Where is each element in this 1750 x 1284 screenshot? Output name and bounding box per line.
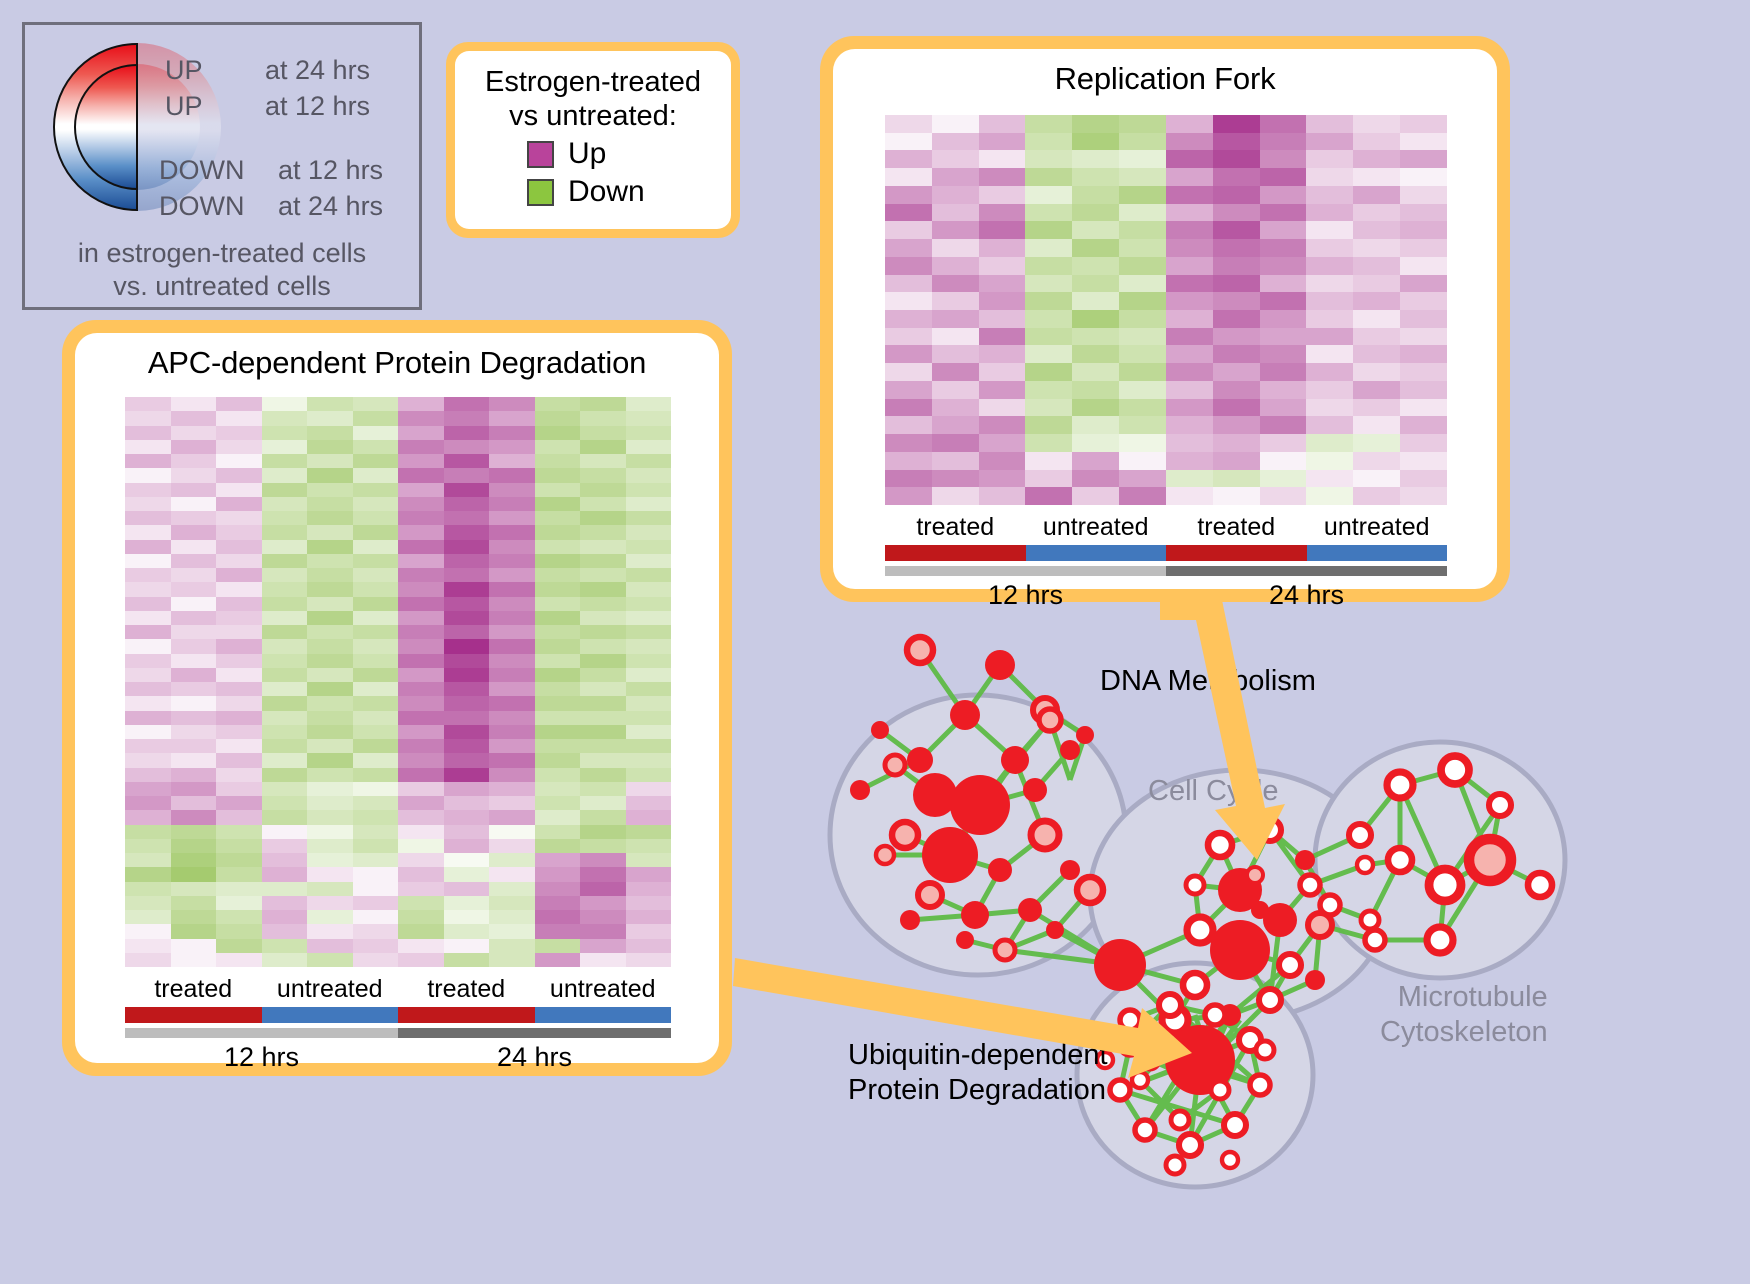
heatmap-cell [626,910,672,924]
network-node[interactable] [876,846,894,864]
heatmap-cell [353,882,399,896]
network-node[interactable] [913,773,957,817]
heatmap-cell [1353,416,1400,434]
heatmap-cell [489,454,535,468]
heatmap-cell [398,639,444,653]
network-node[interactable] [1205,1005,1225,1025]
heatmap-cell [489,796,535,810]
network-node[interactable] [885,755,905,775]
heatmap-cell [626,411,672,425]
heatmap-cell [444,440,490,454]
heatmap-cell [1166,204,1213,222]
heatmap-cell [125,554,171,568]
heatmap-cell [1025,310,1072,328]
heatmap-cell [535,639,581,653]
heatmap-cell [353,924,399,938]
circle-key-footer-line1: in estrogen-treated cells [25,237,419,270]
axis-group-labels-apc: treateduntreatedtreateduntreated [125,975,671,1004]
heatmap-cell [1119,434,1166,452]
network-node[interactable] [1305,970,1325,990]
heatmap-cell [1119,452,1166,470]
heatmap-cell [1353,115,1400,133]
network-node[interactable] [961,901,989,929]
heatmap-cell [171,867,217,881]
heatmap-cell [444,896,490,910]
heatmap-cell [1353,275,1400,293]
heatmap-cell [489,639,535,653]
axis-group-label: treated [885,513,1026,542]
heatmap-cell [1025,292,1072,310]
heatmap-cell [489,426,535,440]
heatmap-cell [489,554,535,568]
circle-key-footer-line2: vs. untreated cells [25,270,419,303]
heatmap-cell [1260,257,1307,275]
heatmap-cell [626,440,672,454]
heatmap-cell [1025,221,1072,239]
heatmap-cell [307,582,353,596]
heatmap-cell [353,768,399,782]
network-diagram[interactable]: DNA Metabolism Cell Cycle Microtubule Cy… [800,620,1750,1279]
heatmap-cell [885,416,932,434]
heatmap-cell [885,186,932,204]
heatmap-cell [580,397,626,411]
heatmap-cell [489,668,535,682]
heatmap-cell [353,525,399,539]
network-node[interactable] [900,910,920,930]
heatmap-cell [1306,133,1353,151]
legend-up-row: Up [527,137,723,171]
heatmap-cell [216,696,262,710]
heatmap-cell [353,611,399,625]
heatmap-cell [171,739,217,753]
network-node[interactable] [1441,756,1469,784]
heatmap-cell [1353,470,1400,488]
network-node[interactable] [850,780,870,800]
heatmap-cell [489,682,535,696]
network-node[interactable] [1186,876,1204,894]
key-up-24-value: UP [165,55,203,86]
heatmap-cell [262,611,308,625]
heatmap-cell [1400,150,1447,168]
heatmap-cell [125,896,171,910]
heatmap-cell [489,654,535,668]
heatmap-cell [1353,399,1400,417]
heatmap-cell [216,810,262,824]
network-node[interactable] [1361,911,1379,929]
heatmap-cell [216,511,262,525]
heatmap-cell [1306,115,1353,133]
heatmap-cell [216,625,262,639]
heatmap-cell [1260,399,1307,417]
heatmap-cell [125,711,171,725]
network-node[interactable] [1528,873,1552,897]
heatmap-cell [580,711,626,725]
axis-group-label: treated [1166,513,1307,542]
heatmap-cell [444,867,490,881]
heatmap-cell [125,597,171,611]
heatmap-cell [353,582,399,596]
heatmap-cell [626,711,672,725]
network-node[interactable] [1120,1010,1140,1030]
axis-group-label: treated [398,975,535,1004]
network-node[interactable] [1247,867,1263,883]
network-node[interactable] [1469,839,1511,881]
heatmap-cell [1072,452,1119,470]
network-node[interactable] [988,858,1012,882]
heatmap-cell [353,782,399,796]
heatmap-cell [398,953,444,967]
network-node[interactable] [950,700,980,730]
heatmap-cell [398,682,444,696]
heatmap-cell [125,540,171,554]
heatmap-cell [580,882,626,896]
network-node[interactable] [950,775,1010,835]
network-node[interactable] [1300,875,1320,895]
heatmap-cell [535,696,581,710]
heatmap-cell [885,239,932,257]
heatmap-cell [580,668,626,682]
heatmap-cell [125,511,171,525]
network-node[interactable] [1039,709,1061,731]
heatmap-cell [1400,133,1447,151]
heatmap-cell [1353,487,1400,505]
heatmap-cell [398,810,444,824]
heatmap-cell [307,611,353,625]
heatmap-cell [626,397,672,411]
heatmap-cell [353,796,399,810]
heatmap-cell [307,397,353,411]
network-node[interactable] [1256,1041,1274,1059]
network-node[interactable] [1183,973,1207,997]
network-node[interactable] [1179,1134,1201,1156]
network-node[interactable] [1208,833,1232,857]
heatmap-cell [932,204,979,222]
network-node[interactable] [995,940,1015,960]
heatmap-cell [216,753,262,767]
network-node[interactable] [1388,848,1412,872]
heatmap-cell [353,625,399,639]
network-node[interactable] [1489,794,1511,816]
heatmap-cell [979,204,1026,222]
heatmap-cell [489,939,535,953]
heatmap-cell [353,411,399,425]
network-node[interactable] [871,721,889,739]
network-node[interactable] [985,650,1015,680]
heatmap-cell [535,497,581,511]
heatmap-cell [885,168,932,186]
heatmap-cell [885,204,932,222]
heatmap-cell [535,568,581,582]
heatmap-cell [626,483,672,497]
heatmap-cell [307,568,353,582]
heatmap-cell [398,796,444,810]
heatmap-cell [885,221,932,239]
heatmap-cell [979,115,1026,133]
heatmap-cell [171,696,217,710]
heatmap-cell [535,953,581,967]
heatmap-cell [1260,168,1307,186]
heatmap-cell [398,924,444,938]
heatmap-cell [1119,150,1166,168]
heatmap-cell [307,939,353,953]
axis-time-labels-apc: 12 hrs24 hrs [125,1042,671,1073]
heatmap-cell [262,867,308,881]
heatmap-cell [125,939,171,953]
panel-replication-fork-title: Replication Fork [833,49,1497,97]
heatmap-cell [1260,452,1307,470]
heatmap-cell [535,796,581,810]
network-node[interactable] [892,822,918,848]
heatmap-cell [353,668,399,682]
heatmap-cell [885,345,932,363]
heatmap-cell [885,292,932,310]
heatmap-cell [489,825,535,839]
heatmap-cell [307,426,353,440]
heatmap-cell [580,825,626,839]
heatmap-cell [1260,470,1307,488]
heatmap-cell [1119,257,1166,275]
heatmap-cell [1166,239,1213,257]
heatmap-cell [1353,292,1400,310]
network-node[interactable] [1046,921,1064,939]
heatmap-cell [1400,487,1447,505]
heatmap-cell [1260,310,1307,328]
heatmap-cell [1306,345,1353,363]
network-node[interactable] [1259,819,1281,841]
figure-root: UP at 24 hrs UP at 12 hrs DOWN at 12 hrs… [0,0,1750,1279]
network-node[interactable] [907,637,933,663]
heatmap-cell [1353,452,1400,470]
network-node[interactable] [1279,954,1301,976]
heatmap-cell [1166,416,1213,434]
heatmap-cell [489,625,535,639]
network-node[interactable] [1023,778,1047,802]
heatmap-cell [580,768,626,782]
heatmap-cell [1213,399,1260,417]
heatmap-cell [353,654,399,668]
heatmap-cell [125,953,171,967]
heatmap-cell [885,381,932,399]
heatmap-cell [979,345,1026,363]
heatmap-cell [1025,133,1072,151]
network-node[interactable] [1060,740,1080,760]
heatmap-cell [1119,221,1166,239]
heatmap-cell [979,487,1026,505]
heatmap-cell [1213,345,1260,363]
heatmap-cell [307,739,353,753]
heatmap-cell [1025,381,1072,399]
heatmap-cell [171,426,217,440]
network-node[interactable] [1120,1035,1140,1055]
heatmap-cell [307,796,353,810]
panel-apc-degradation[interactable]: APC-dependent Protein Degradation treate… [62,320,732,1076]
network-node[interactable] [1094,939,1146,991]
heatmap-cell [932,345,979,363]
network-node[interactable] [1077,877,1103,903]
network-node[interactable] [1211,1081,1229,1099]
heatmap-cell [1213,328,1260,346]
heatmap-cell [216,896,262,910]
network-node[interactable] [1110,1080,1130,1100]
network-node[interactable] [1427,927,1453,953]
heatmap-cell [1353,204,1400,222]
heatmap-cell [1072,150,1119,168]
network-node[interactable] [1135,1120,1155,1140]
heatmap-cell [1260,275,1307,293]
heatmap-cell [979,416,1026,434]
heatmap-cell [262,411,308,425]
heatmap-cell [398,540,444,554]
network-node[interactable] [1251,901,1269,919]
network-node[interactable] [907,747,933,773]
heatmap-cell [1166,275,1213,293]
network-node[interactable] [1166,1156,1184,1174]
network-node[interactable] [1250,1075,1270,1095]
heatmap-cell [626,597,672,611]
network-node[interactable] [1001,746,1029,774]
heatmap-cell [1025,204,1072,222]
axis-group-labels-rep: treateduntreatedtreateduntreated [885,513,1447,542]
heatmap-cell [1306,328,1353,346]
heatmap-cell [626,511,672,525]
heatmap-cell [353,682,399,696]
axis-time-color [125,1028,398,1038]
heatmap-cell [125,582,171,596]
heatmap-cell [171,639,217,653]
heatmap-cell [125,426,171,440]
heatmap-cell [580,753,626,767]
heatmap-cell [1025,168,1072,186]
heatmap-cell [535,682,581,696]
network-node[interactable] [1187,917,1213,943]
network-node[interactable] [1210,920,1270,980]
heatmap-cell [444,497,490,511]
heatmap-cell [398,568,444,582]
heatmap-cell [932,115,979,133]
heatmap-cell [216,411,262,425]
network-node[interactable] [1295,850,1315,870]
heatmap-cell [171,939,217,953]
heatmap-cell [125,867,171,881]
heatmap-cell [353,454,399,468]
heatmap-cell [932,221,979,239]
network-node[interactable] [1031,821,1059,849]
network-node[interactable] [922,827,978,883]
heatmap-cell [1166,345,1213,363]
heatmap-cell [307,753,353,767]
heatmap-cell [535,882,581,896]
heatmap-cell [353,711,399,725]
heatmap-cell [489,568,535,582]
network-node[interactable] [956,931,974,949]
heatmap-cell [1213,257,1260,275]
heatmap-cell [307,597,353,611]
heatmap-cell [580,910,626,924]
network-node[interactable] [1132,1072,1148,1088]
heatmap-cell [535,825,581,839]
heatmap-cell [307,867,353,881]
axis-group-color [535,1007,672,1023]
heatmap-cell [979,239,1026,257]
heatmap-cell [398,725,444,739]
heatmap-cell [885,310,932,328]
heatmap-cell [444,525,490,539]
heatmap-cell [626,882,672,896]
network-node[interactable] [1076,726,1094,744]
network-node[interactable] [1222,1152,1238,1168]
heatmap-cell [626,896,672,910]
heatmap-cell [1072,345,1119,363]
heatmap-cell [535,768,581,782]
heatmap-cell [932,416,979,434]
heatmap-cell [125,810,171,824]
network-node[interactable] [1365,930,1385,950]
heatmap-cell [262,896,308,910]
heatmap-cell [1213,434,1260,452]
network-node[interactable] [1141,1051,1159,1069]
circle-key-footer: in estrogen-treated cells vs. untreated … [25,237,419,303]
heatmap-cell [1353,257,1400,275]
network-node[interactable] [1171,1111,1189,1129]
axis-group-label: untreated [262,975,399,1004]
panel-replication-fork[interactable]: Replication Fork treateduntreatedtreated… [820,36,1510,602]
heatmap-cell [444,953,490,967]
legend-updown-title: Estrogen-treated vs untreated: [463,65,723,133]
heatmap-cell [125,768,171,782]
heatmap-cell [171,582,217,596]
network-node[interactable] [1320,895,1340,915]
heatmap-cell [444,411,490,425]
heatmap-cell [885,487,932,505]
legend-updown-inner: Estrogen-treated vs untreated: Up Down [455,51,731,229]
heatmap-cell [1213,416,1260,434]
heatmap-cell [932,150,979,168]
heatmap-cell [262,768,308,782]
heatmap-cell [262,782,308,796]
heatmap-cell [1260,221,1307,239]
heatmap-cell [1400,434,1447,452]
heatmap-cell [125,924,171,938]
network-node[interactable] [918,883,942,907]
network-node[interactable] [1259,989,1281,1011]
network-node[interactable] [1349,824,1371,846]
network-node[interactable] [1159,994,1181,1016]
key-down-12-value: DOWN [159,155,244,186]
heatmap-cell [580,511,626,525]
heatmap-cell [307,540,353,554]
heatmap-cell [1353,150,1400,168]
heatmap-cell [216,654,262,668]
heatmap-cell [444,753,490,767]
heatmap-cell [1213,381,1260,399]
heatmap-cell [398,711,444,725]
network-node[interactable] [1357,857,1373,873]
heatmap-cell [398,426,444,440]
network-node[interactable] [1060,860,1080,880]
network-node[interactable] [1387,772,1413,798]
heatmap-cell [353,753,399,767]
heatmap-cell [353,397,399,411]
heatmap-cell [1400,257,1447,275]
heatmap-cell [932,186,979,204]
network-node[interactable] [1018,898,1042,922]
heatmap-cell [535,611,581,625]
network-node[interactable] [1224,1114,1246,1136]
heatmap-cell [444,796,490,810]
heatmap-cell [535,397,581,411]
network-node[interactable] [1429,869,1461,901]
heatmap-cell [307,468,353,482]
